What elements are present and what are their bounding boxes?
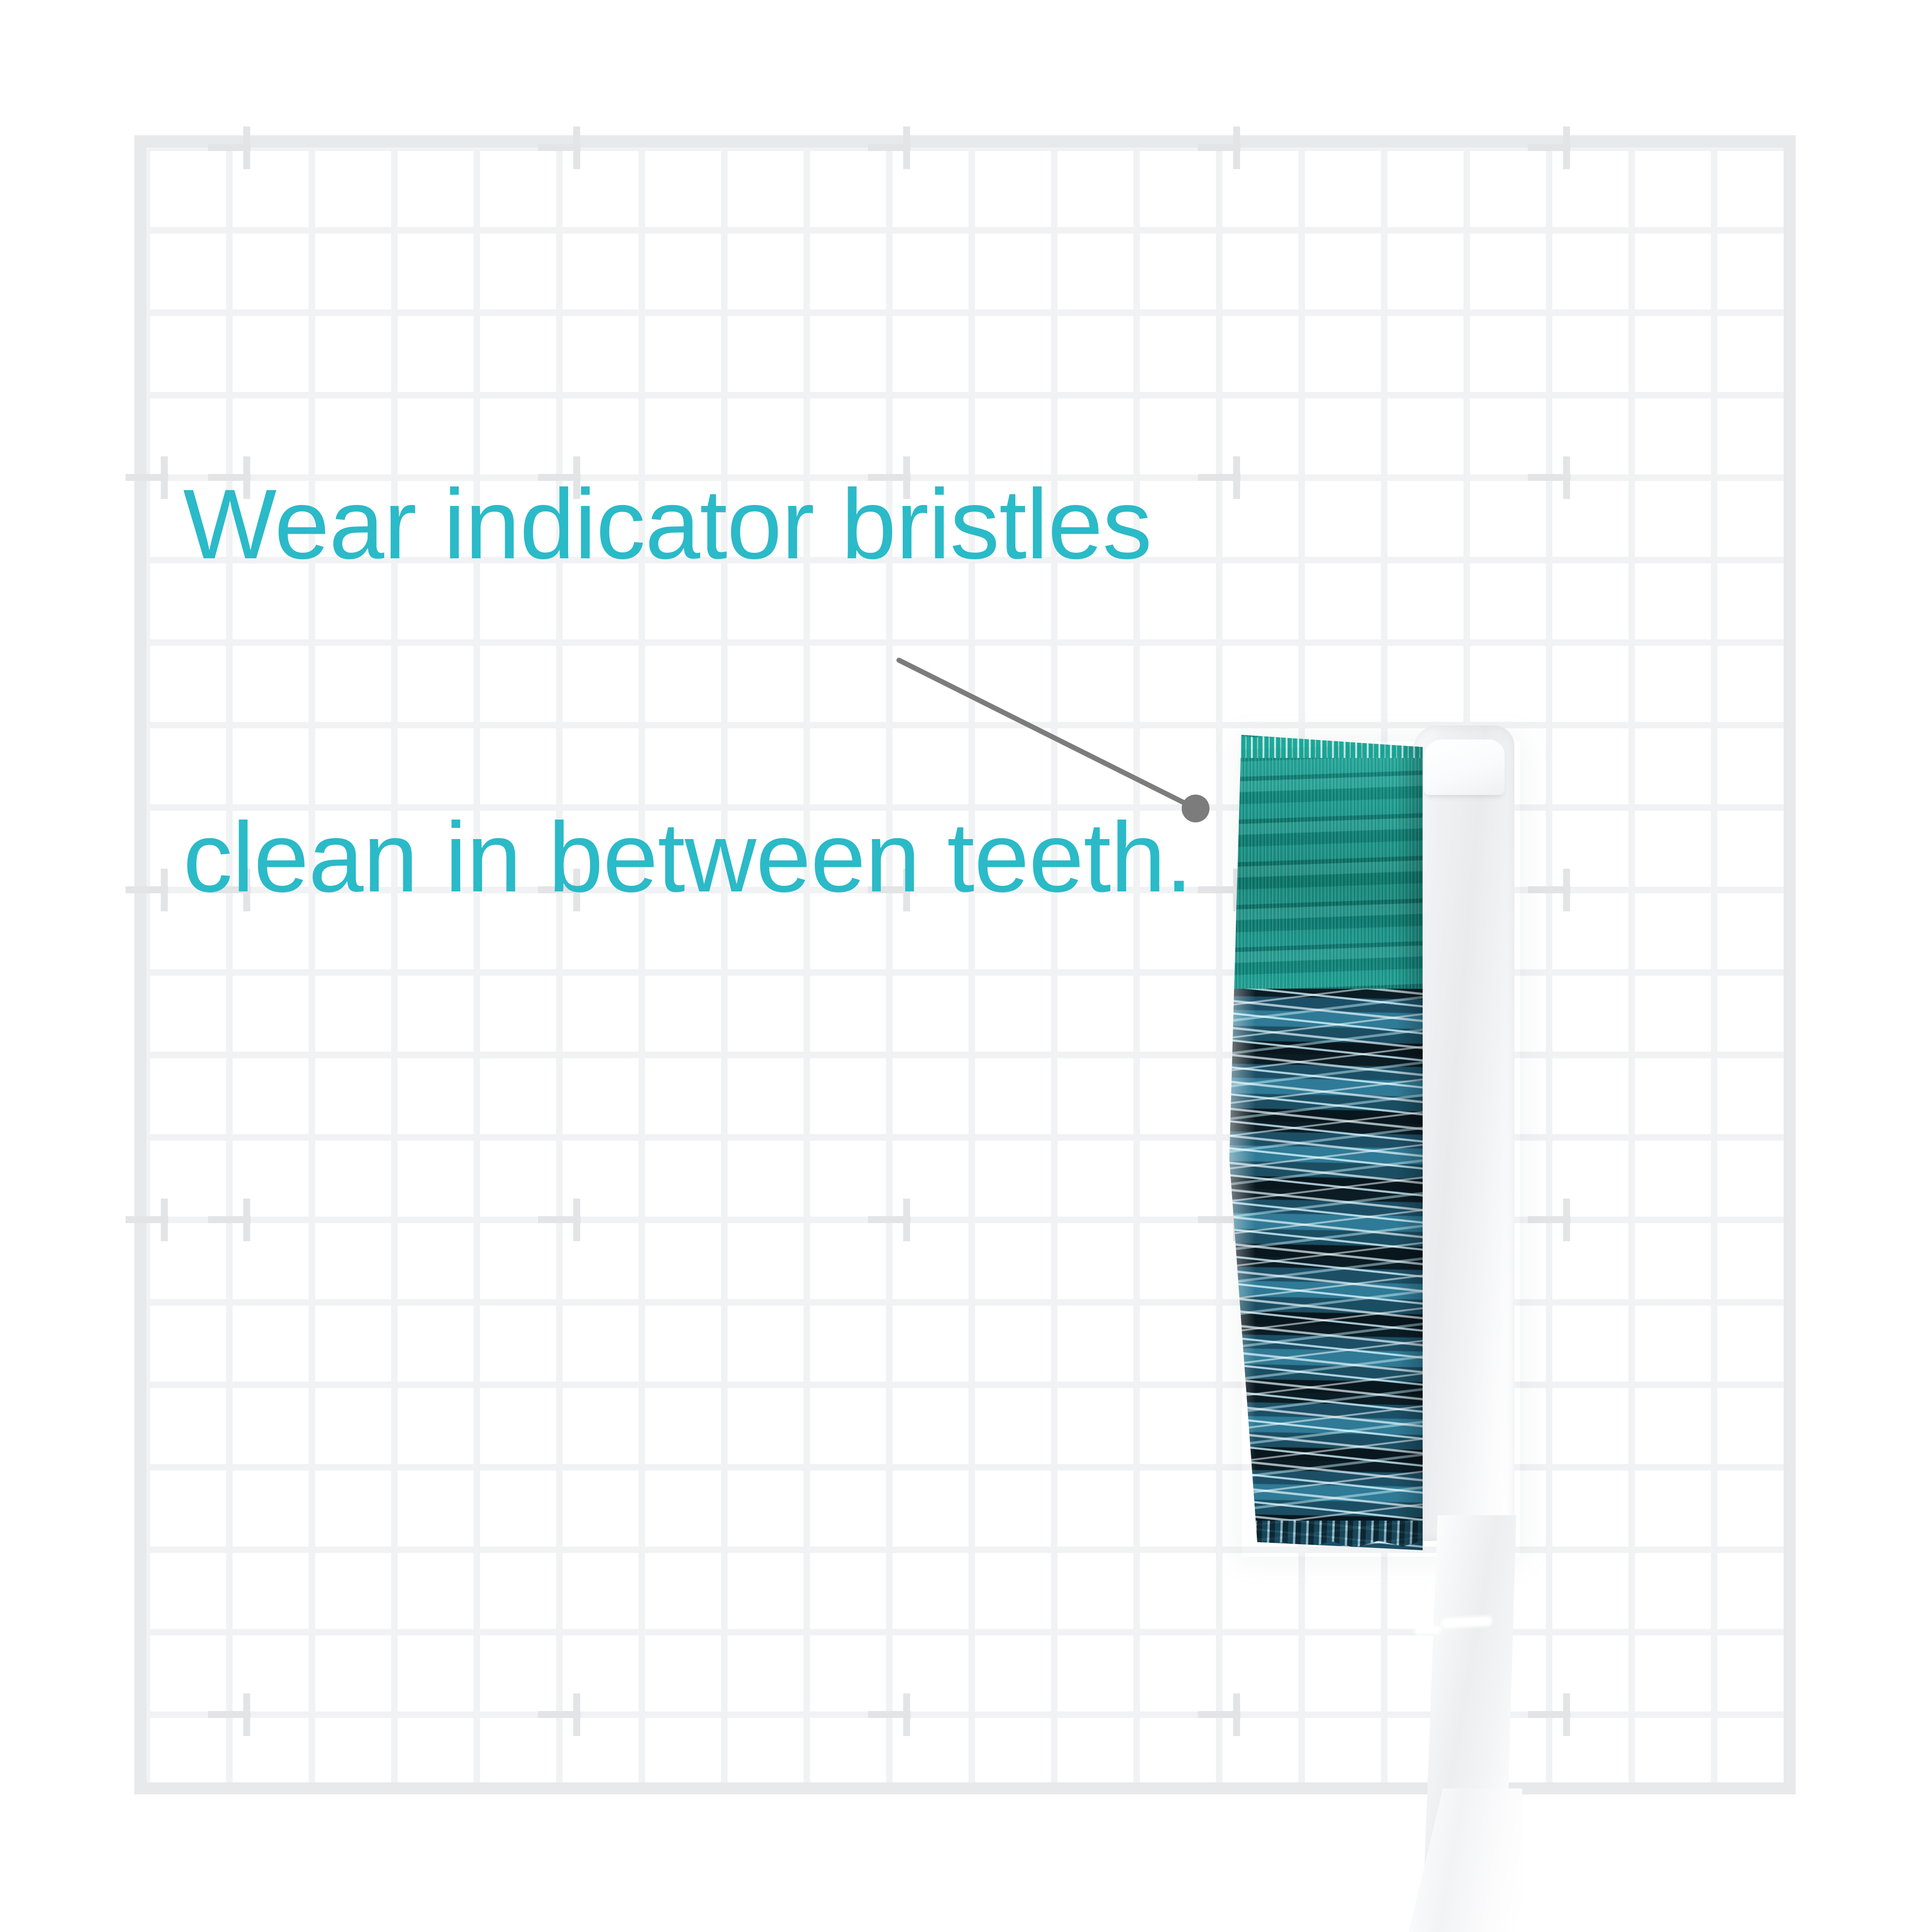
wear-indicator-bristle-tips <box>1223 735 1423 758</box>
bristle-field <box>1223 735 1423 1550</box>
toothbrush-head-tip <box>1424 739 1505 795</box>
poster-canvas: Wear indicator bristles clean in between… <box>0 0 1931 1931</box>
wear-indicator-bristles <box>1223 735 1423 994</box>
bristle-left-highlight <box>1223 989 1256 1550</box>
bristle-right-shadow <box>1396 735 1423 1550</box>
toothbrush-image <box>1223 686 1511 1931</box>
toothbrush-handle <box>1409 1788 1522 1932</box>
toothbrush-head-back <box>1413 726 1514 1541</box>
caption-line-1: Wear indicator bristles <box>183 441 1527 608</box>
